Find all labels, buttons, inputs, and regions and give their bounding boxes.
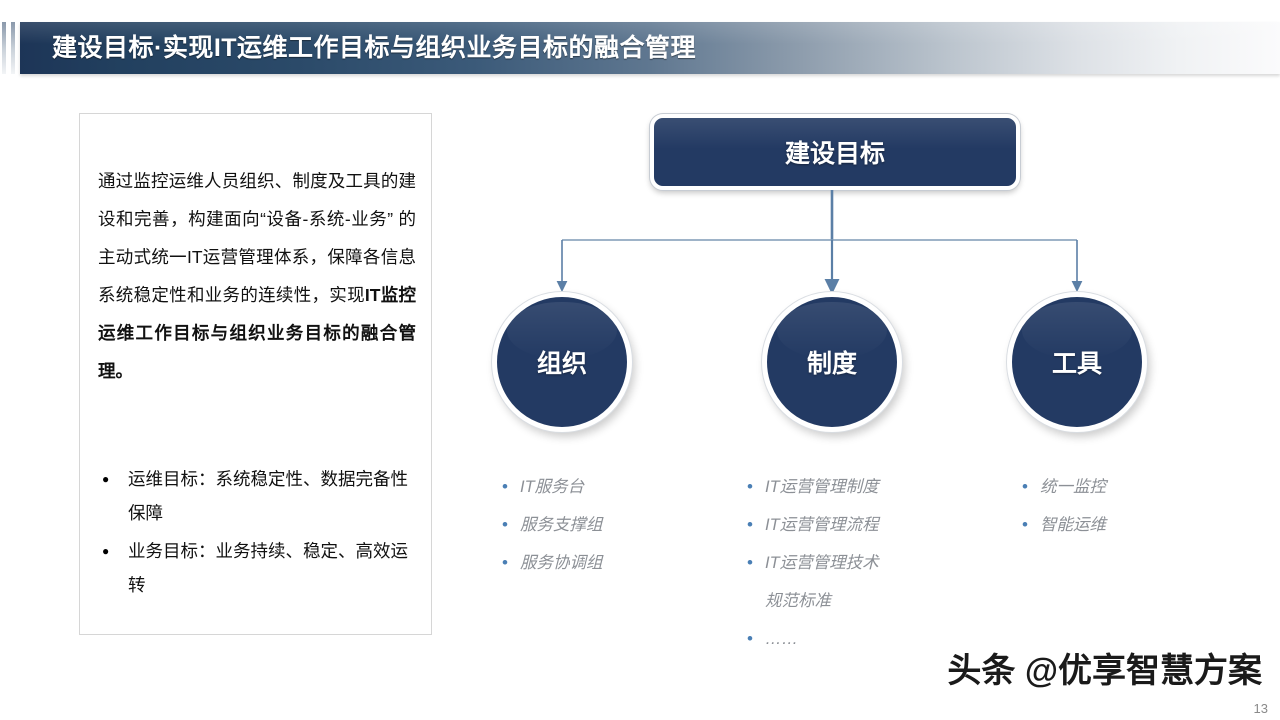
branch-item-text: 服务支撑组 [520,516,603,534]
panel-bullet-list: 运维目标：系统稳定性、数据完备性保障 业务目标：业务持续、稳定、高效运转 [102,462,420,606]
branch-item-text: 智能运维 [1040,516,1106,534]
branch-item-text: IT运营管理制度 [765,478,879,496]
diagram-node-tool[interactable]: 工具 [1007,292,1147,432]
list-item: 统一监控 [1020,468,1106,506]
branch-item-text: IT运营管理技术 [765,554,879,572]
branch-item-text: …… [765,630,798,648]
description-panel: 通过监控运维人员组织、制度及工具的建设和完善，构建面向“设备-系统-业务” 的主… [79,113,432,635]
branch-item-text: IT运营管理流程 [765,516,879,534]
list-item: IT运营管理技术 [745,544,879,582]
branch-item-list-system: IT运营管理制度 IT运营管理流程 IT运营管理技术 规范标准 …… [745,468,879,658]
diagram-node-system[interactable]: 制度 [762,292,902,432]
title-accent-bar-inner [11,22,15,74]
panel-bullet-text: 运维目标：系统稳定性、数据完备性保障 [128,469,408,523]
watermark: 头条 @优享智慧方案 [947,643,1262,692]
panel-bullet-text: 业务目标：业务持续、稳定、高效运转 [128,541,408,595]
page-title: 建设目标·实现IT运维工作目标与组织业务目标的融合管理 [52,22,696,74]
title-plate: 建设目标·实现IT运维工作目标与组织业务目标的融合管理 [20,22,1280,74]
title-accent-bar-outer [2,22,6,74]
list-item: IT运营管理制度 [745,468,879,506]
branch-item-list-organization: IT服务台 服务支撑组 服务协调组 [500,468,603,582]
branch-item-text: 服务协调组 [520,554,603,572]
slide-title-band: 建设目标·实现IT运维工作目标与组织业务目标的融合管理 [0,22,1280,74]
diagram-node-label: 制度 [767,297,897,427]
diagram-node-label: 组织 [497,297,627,427]
list-item: 运维目标：系统稳定性、数据完备性保障 [102,462,420,530]
diagram-node-organization[interactable]: 组织 [492,292,632,432]
panel-paragraph: 通过监控运维人员组织、制度及工具的建设和完善，构建面向“设备-系统-业务” 的主… [98,162,416,390]
branch-item-text: 规范标准 [765,592,831,610]
list-item: …… [745,620,879,658]
list-item: 智能运维 [1020,506,1106,544]
list-item: 服务支撑组 [500,506,603,544]
list-item-continuation: 规范标准 [745,582,879,620]
org-chart-diagram: 建设目标 组织 制度 工具 IT服务台 服务支撑组 服务协调组 IT运营管理制度… [440,100,1240,680]
diagram-node-label: 工具 [1012,297,1142,427]
list-item: IT运营管理流程 [745,506,879,544]
branch-item-list-tool: 统一监控 智能运维 [1020,468,1106,544]
list-item: IT服务台 [500,468,603,506]
list-item: 业务目标：业务持续、稳定、高效运转 [102,534,420,602]
page-number: 13 [1254,701,1268,716]
list-item: 服务协调组 [500,544,603,582]
branch-item-text: IT服务台 [520,478,584,496]
branch-item-text: 统一监控 [1040,478,1106,496]
